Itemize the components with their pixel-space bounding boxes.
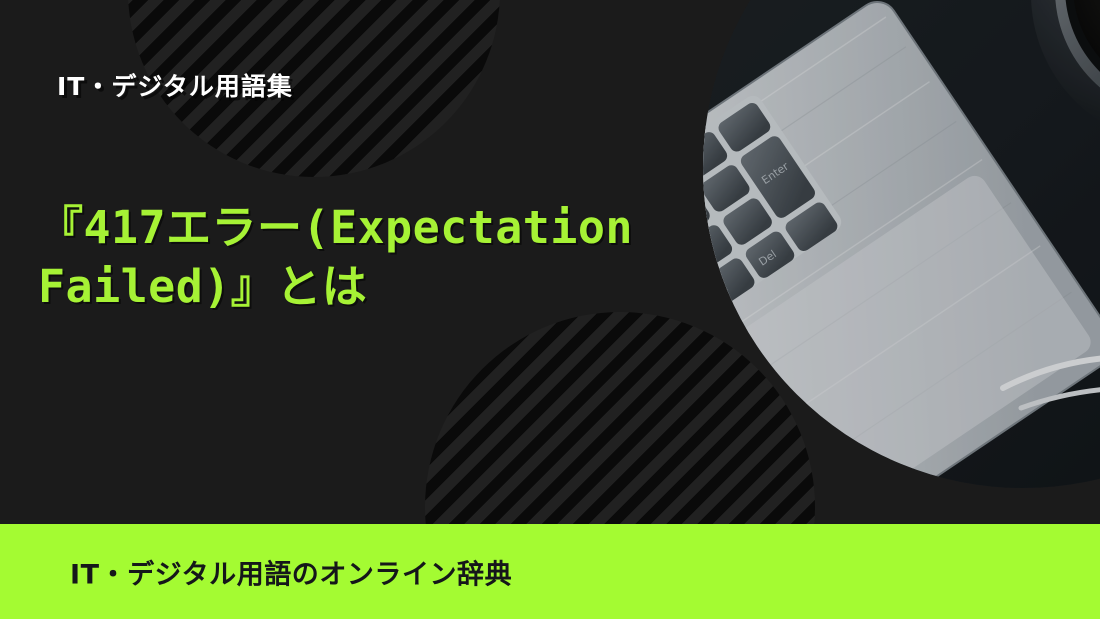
footer-bar: IT・デジタル用語のオンライン辞典 (0, 524, 1100, 619)
category-label: IT・デジタル用語集 (57, 72, 293, 102)
page-title-line-1: 『417エラー(Expectation (38, 198, 698, 257)
photo-circle-laptop-coffee: 7 8 9 + 4 5 6 Enter 1 2 3 0 . Del (703, 0, 1100, 488)
laptop-coffee-illustration: 7 8 9 + 4 5 6 Enter 1 2 3 0 . Del (703, 0, 1100, 488)
site-tagline: IT・デジタル用語のオンライン辞典 (70, 552, 512, 591)
page-title: 『417エラー(Expectation Failed)』とは (38, 198, 698, 317)
svg-text:3: 3 (703, 248, 707, 263)
page-title-line-2: Failed)』とは (38, 257, 698, 316)
eyecatch-image: 7 8 9 + 4 5 6 Enter 1 2 3 0 . Del (0, 0, 1100, 619)
